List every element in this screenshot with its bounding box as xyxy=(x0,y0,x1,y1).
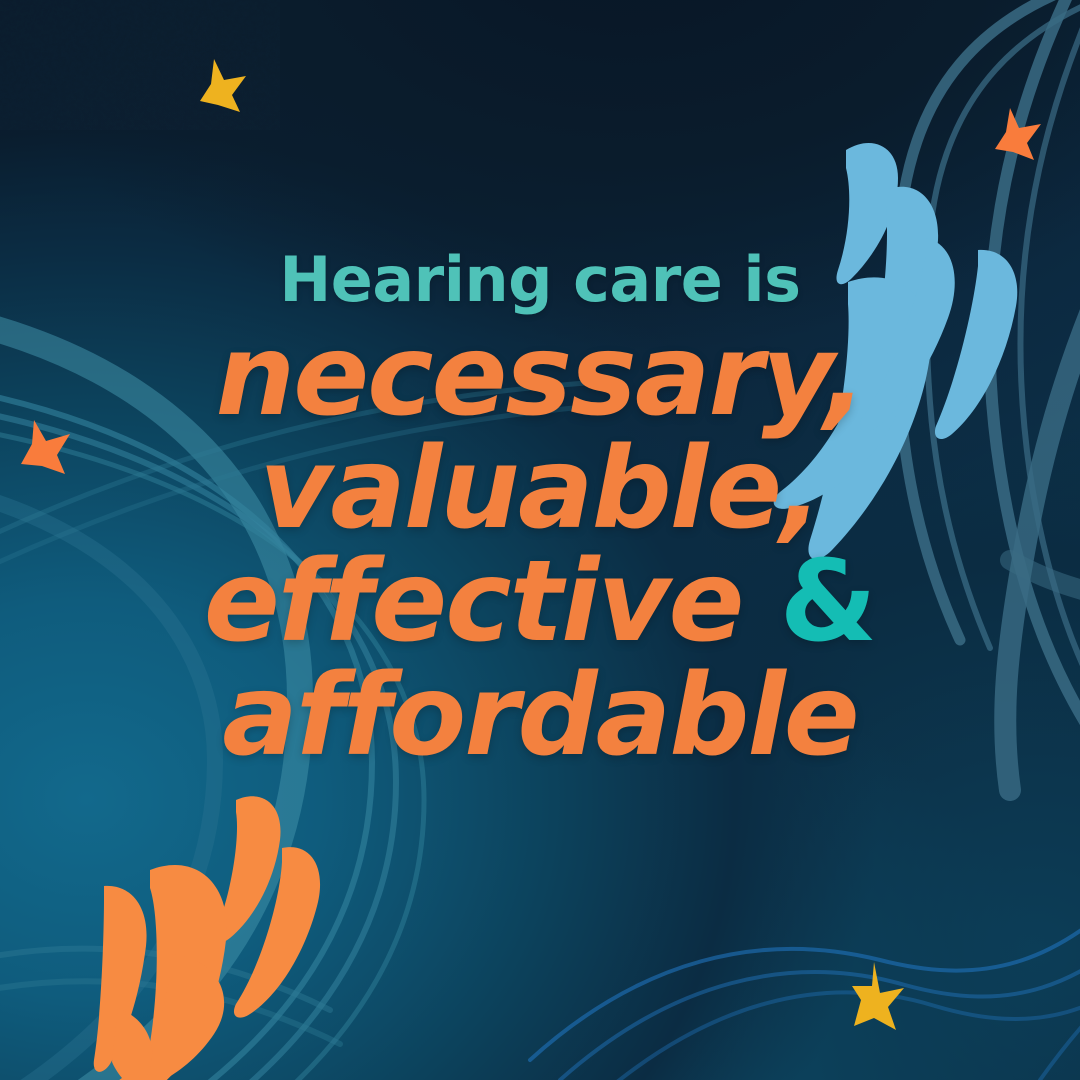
headline-line-2: valuable, xyxy=(0,430,1080,549)
ampersand-glyph: & xyxy=(780,537,877,667)
star-gold-bottom-right xyxy=(852,962,904,1030)
headline-line-4: affordable xyxy=(0,657,1080,776)
poster-canvas: Hearing care is necessary, valuable, eff… xyxy=(0,0,1080,1080)
headline-line-3-word: effective xyxy=(204,537,743,667)
headline-block: Hearing care is necessary, valuable, eff… xyxy=(0,248,1080,776)
headline-line-3: effective & xyxy=(0,543,1080,662)
star-orange-top-right xyxy=(995,108,1041,160)
kicker-text: Hearing care is xyxy=(0,248,1080,311)
star-gold-top-left xyxy=(200,59,246,112)
headline-line-1: necessary, xyxy=(0,317,1080,436)
